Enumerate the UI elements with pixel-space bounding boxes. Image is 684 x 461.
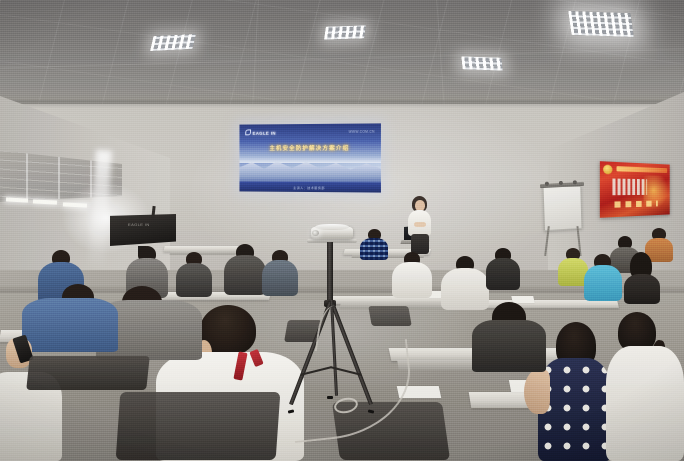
poster-text-panel — [612, 179, 647, 196]
brand-mark-icon — [245, 129, 251, 135]
red-propaganda-poster — [600, 161, 670, 218]
clip-knob-icon — [559, 181, 563, 185]
chair-back — [116, 392, 281, 460]
attendee-torso — [584, 265, 622, 301]
blind-divider — [58, 150, 60, 202]
ceiling-light-right-icon — [568, 11, 634, 37]
clip-knob-icon — [573, 180, 577, 184]
chair-back — [368, 306, 412, 326]
slide-brand-logo: EAGLE IN — [245, 129, 276, 136]
attendee-arm — [524, 370, 550, 414]
projector-top-cover — [315, 224, 349, 230]
ceiling-light-center-icon — [324, 25, 366, 39]
projector-lens-icon — [312, 230, 319, 236]
attendee-torso — [176, 263, 212, 297]
desk-apron — [170, 251, 237, 255]
wall-display-logo: EAGLE IN — [128, 222, 150, 227]
slide-corner-url: WWW.COM.CN — [349, 130, 375, 134]
clip-knob-icon — [545, 182, 549, 186]
poster-header-band — [617, 166, 668, 173]
ceiling-light-left-icon — [150, 34, 196, 51]
attendee-torso — [262, 260, 298, 296]
wall-mounted-display — [110, 214, 176, 246]
projection-screen: EAGLE IN WWW.COM.CN 主机安全防护解决方案介绍 主讲人：技术服… — [239, 123, 381, 192]
attendee-torso — [606, 346, 684, 461]
attendee-torso — [624, 274, 660, 304]
presenter-hands — [414, 222, 426, 227]
baseboard — [0, 286, 684, 293]
presenter-skirt — [411, 234, 429, 254]
attendee-torso — [392, 262, 432, 298]
attendee-torso — [360, 238, 388, 260]
blind-divider — [26, 150, 28, 202]
attendee-torso — [472, 320, 546, 372]
flip-chart-easel — [543, 186, 583, 231]
tripod-column — [327, 242, 333, 304]
slide-title: 主机安全防护解决方案介绍 — [239, 143, 381, 151]
ceiling-light-mid-right-icon — [461, 56, 503, 70]
poster-emblem-icon — [603, 165, 612, 175]
attendee-torso — [486, 258, 520, 290]
slide-logo-text: EAGLE IN — [253, 131, 276, 136]
attendee-torso — [22, 298, 118, 352]
chair-back — [26, 356, 150, 390]
training-room-photo: EAGLE IN WWW.COM.CN 主机安全防护解决方案介绍 主讲人：技术服… — [0, 0, 684, 461]
attendee-torso — [224, 255, 266, 295]
attendee-torso — [441, 268, 489, 310]
